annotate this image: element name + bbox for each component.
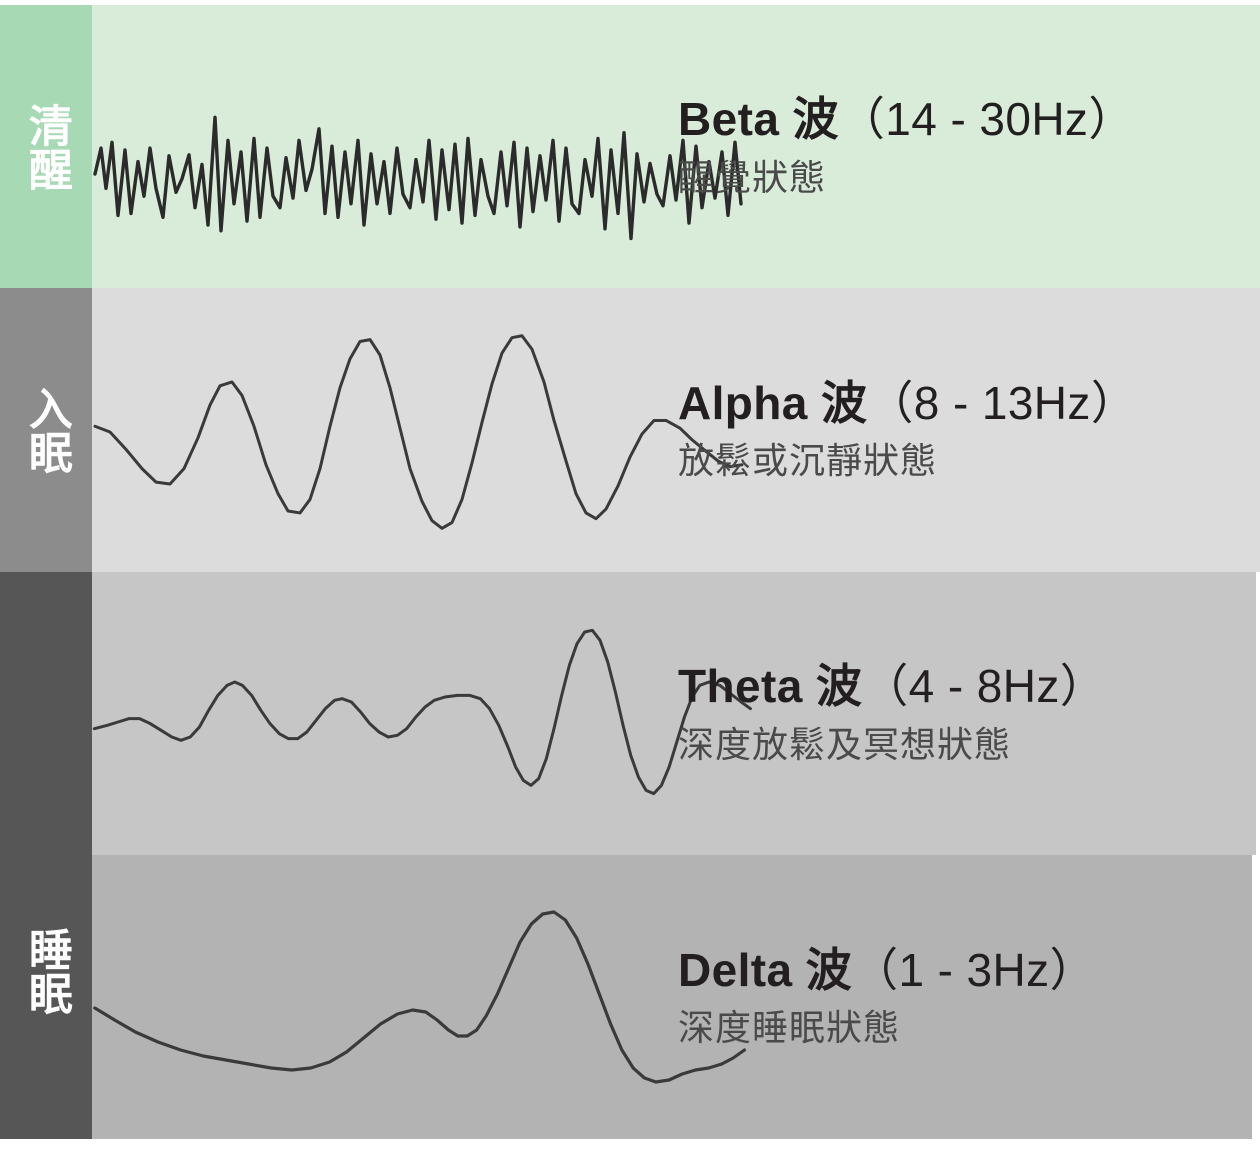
band-waveword-theta: 波 <box>816 660 862 712</box>
band-subtitle-beta: 醒覺狀態 <box>678 156 1135 199</box>
waveform-beta <box>92 25 752 275</box>
band-name-delta: Delta <box>678 944 792 996</box>
band-text-delta: Delta 波（1 - 3Hz） 深度睡眠狀態 <box>678 855 1096 1139</box>
stage-column-sleep: 睡眠 <box>0 572 92 1139</box>
band-text-alpha: Alpha 波（8 - 13Hz） 放鬆或沉靜狀態 <box>678 288 1137 572</box>
band-text-theta: Theta 波（4 - 8Hz） 深度放鬆及冥想狀態 <box>678 572 1106 855</box>
band-frequency-alpha: （8 - 13Hz） <box>867 377 1137 429</box>
stage-column-falling-asleep: 入眠 <box>0 288 92 572</box>
band-title-theta: Theta 波（4 - 8Hz） <box>678 661 1106 713</box>
waveform-theta <box>92 592 752 842</box>
stage-label-falling-asleep: 入眠 <box>23 386 69 474</box>
band-title-delta: Delta 波（1 - 3Hz） <box>678 945 1096 997</box>
band-subtitle-alpha: 放鬆或沉靜狀態 <box>678 439 1137 482</box>
band-frequency-theta: （4 - 8Hz） <box>862 660 1106 712</box>
stage-label-awake: 清醒 <box>23 103 69 191</box>
band-name-alpha: Alpha <box>678 377 808 429</box>
band-subtitle-theta: 深度放鬆及冥想狀態 <box>678 723 1106 766</box>
band-frequency-beta: （14 - 30Hz） <box>839 93 1135 145</box>
band-frequency-delta: （1 - 3Hz） <box>852 944 1096 996</box>
band-name-theta: Theta <box>678 660 803 712</box>
band-waveword-alpha: 波 <box>821 377 867 429</box>
waveform-delta <box>92 880 752 1130</box>
band-waveword-delta: 波 <box>806 944 852 996</box>
band-name-beta: Beta <box>678 93 779 145</box>
stage-column-awake: 清醒 <box>0 5 92 288</box>
band-text-beta: Beta 波（14 - 30Hz） 醒覺狀態 <box>678 5 1135 288</box>
waveform-alpha <box>92 303 752 563</box>
band-title-alpha: Alpha 波（8 - 13Hz） <box>678 378 1137 430</box>
stage-label-sleep: 睡眠 <box>23 927 69 1015</box>
band-subtitle-delta: 深度睡眠狀態 <box>678 1006 1096 1049</box>
brainwave-diagram: 清醒 入眠 睡眠 Beta 波（14 - 30Hz） 醒覺狀態 Alpha 波（… <box>0 0 1260 1161</box>
band-waveword-beta: 波 <box>793 93 839 145</box>
band-title-beta: Beta 波（14 - 30Hz） <box>678 94 1135 146</box>
